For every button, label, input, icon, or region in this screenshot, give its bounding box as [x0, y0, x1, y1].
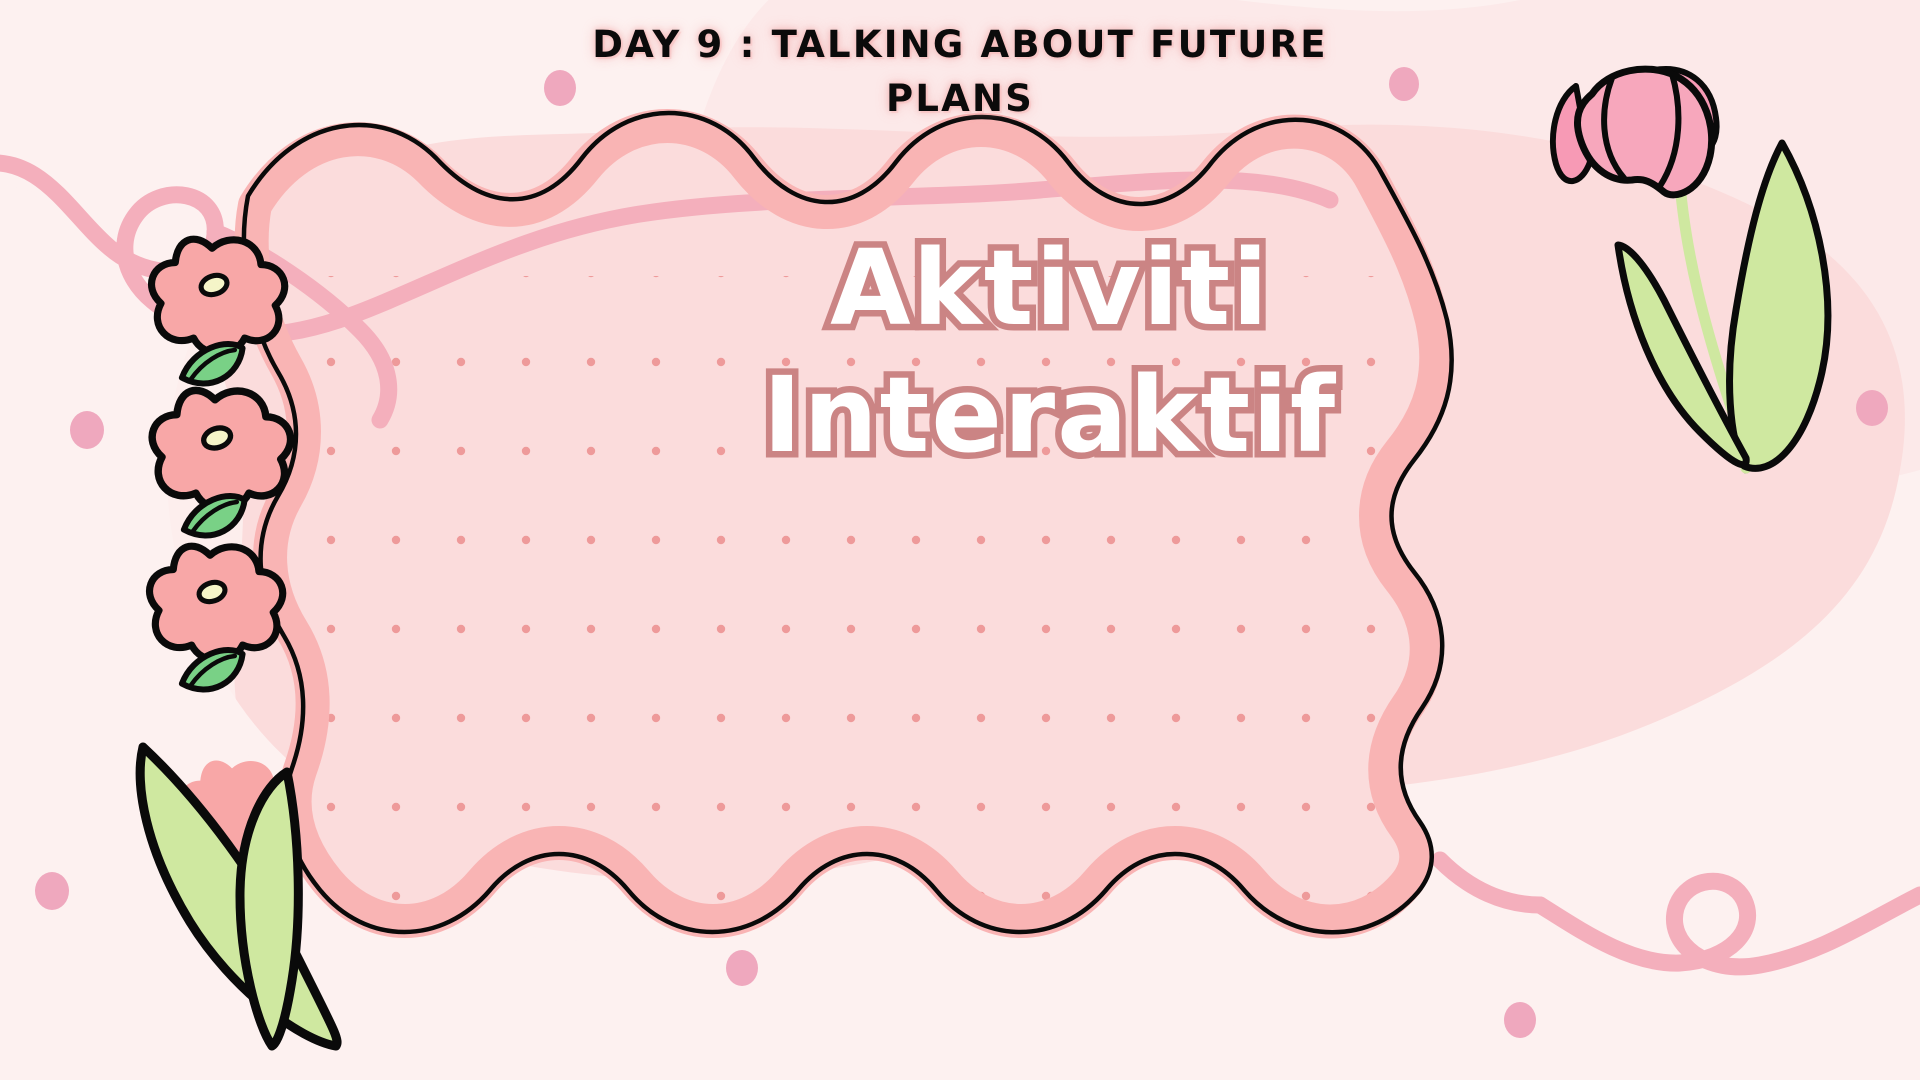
slide-canvas: DAY 9 : TALKING ABOUT FUTURE PLANS Aktiv… — [0, 0, 1920, 1080]
background-decor-layer — [0, 0, 1920, 1080]
dot-grid-icon — [306, 276, 1466, 916]
